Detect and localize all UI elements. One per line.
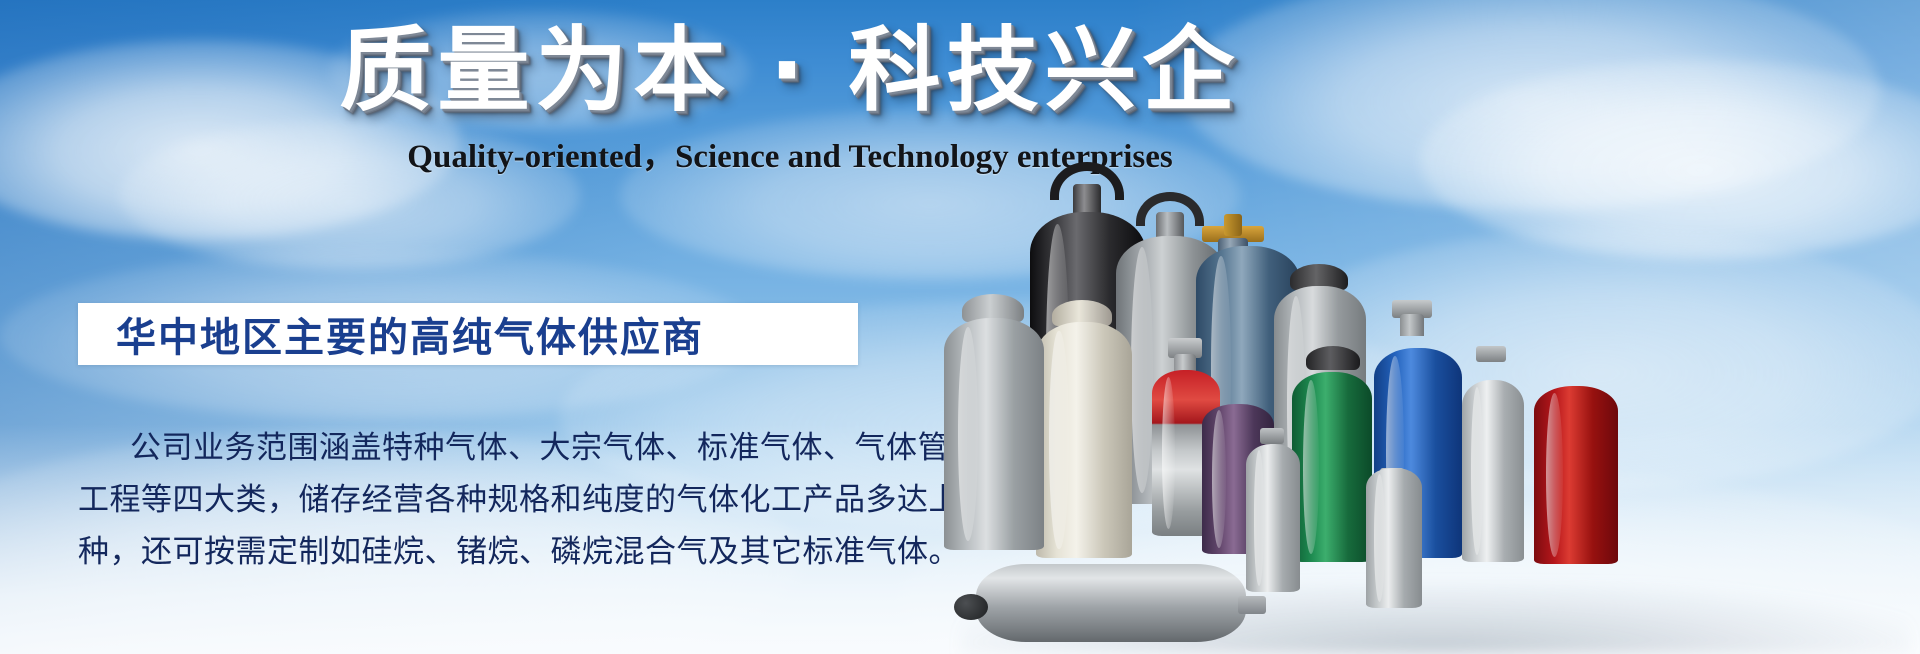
- banner-description: 公司业务范围涵盖特种气体、大宗气体、标准气体、气体管道 工程等四大类，储存经营各…: [78, 422, 878, 578]
- gas-cylinder-group: [940, 150, 1920, 654]
- green-cylinder: [1292, 372, 1372, 562]
- slim-aluminum-cylinder-valve: [1476, 346, 1506, 362]
- lying-tank-valve: [954, 594, 988, 620]
- lying-grey-tank: [976, 564, 1246, 642]
- blue-cylinder-neck: [1400, 314, 1424, 336]
- banner-headline: 质量为本 · 科技兴企: [325, 22, 1255, 120]
- steel-blue-cylinder-valve-stem: [1224, 214, 1242, 236]
- cream-cylinder: [1036, 322, 1132, 558]
- promotional-banner: 质量为本 · 科技兴企 Quality-oriented，Science and…: [0, 0, 1920, 654]
- highlight-callout-box: 华中地区主要的高纯气体供应商: [78, 303, 858, 365]
- small-aluminum-bottle: [1366, 468, 1422, 608]
- description-line: 工程等四大类，储存经营各种规格和纯度的气体化工产品多达上百: [78, 474, 878, 526]
- small-aluminum-bottle: [1246, 444, 1300, 592]
- dark-red-cylinder: [1534, 386, 1618, 564]
- light-grey-cylinder: [944, 318, 1044, 550]
- green-cylinder-cap: [1306, 346, 1360, 370]
- description-line: 公司业务范围涵盖特种气体、大宗气体、标准气体、气体管道: [78, 422, 878, 474]
- small-bottle-valve: [1260, 428, 1284, 444]
- description-line: 种，还可按需定制如硅烷、锗烷、磷烷混合气及其它标准气体。: [78, 526, 878, 578]
- lying-tank-neck: [1238, 596, 1266, 614]
- highlight-callout-text: 华中地区主要的高纯气体供应商: [116, 305, 704, 363]
- aluminum-cylinder: [1462, 380, 1524, 562]
